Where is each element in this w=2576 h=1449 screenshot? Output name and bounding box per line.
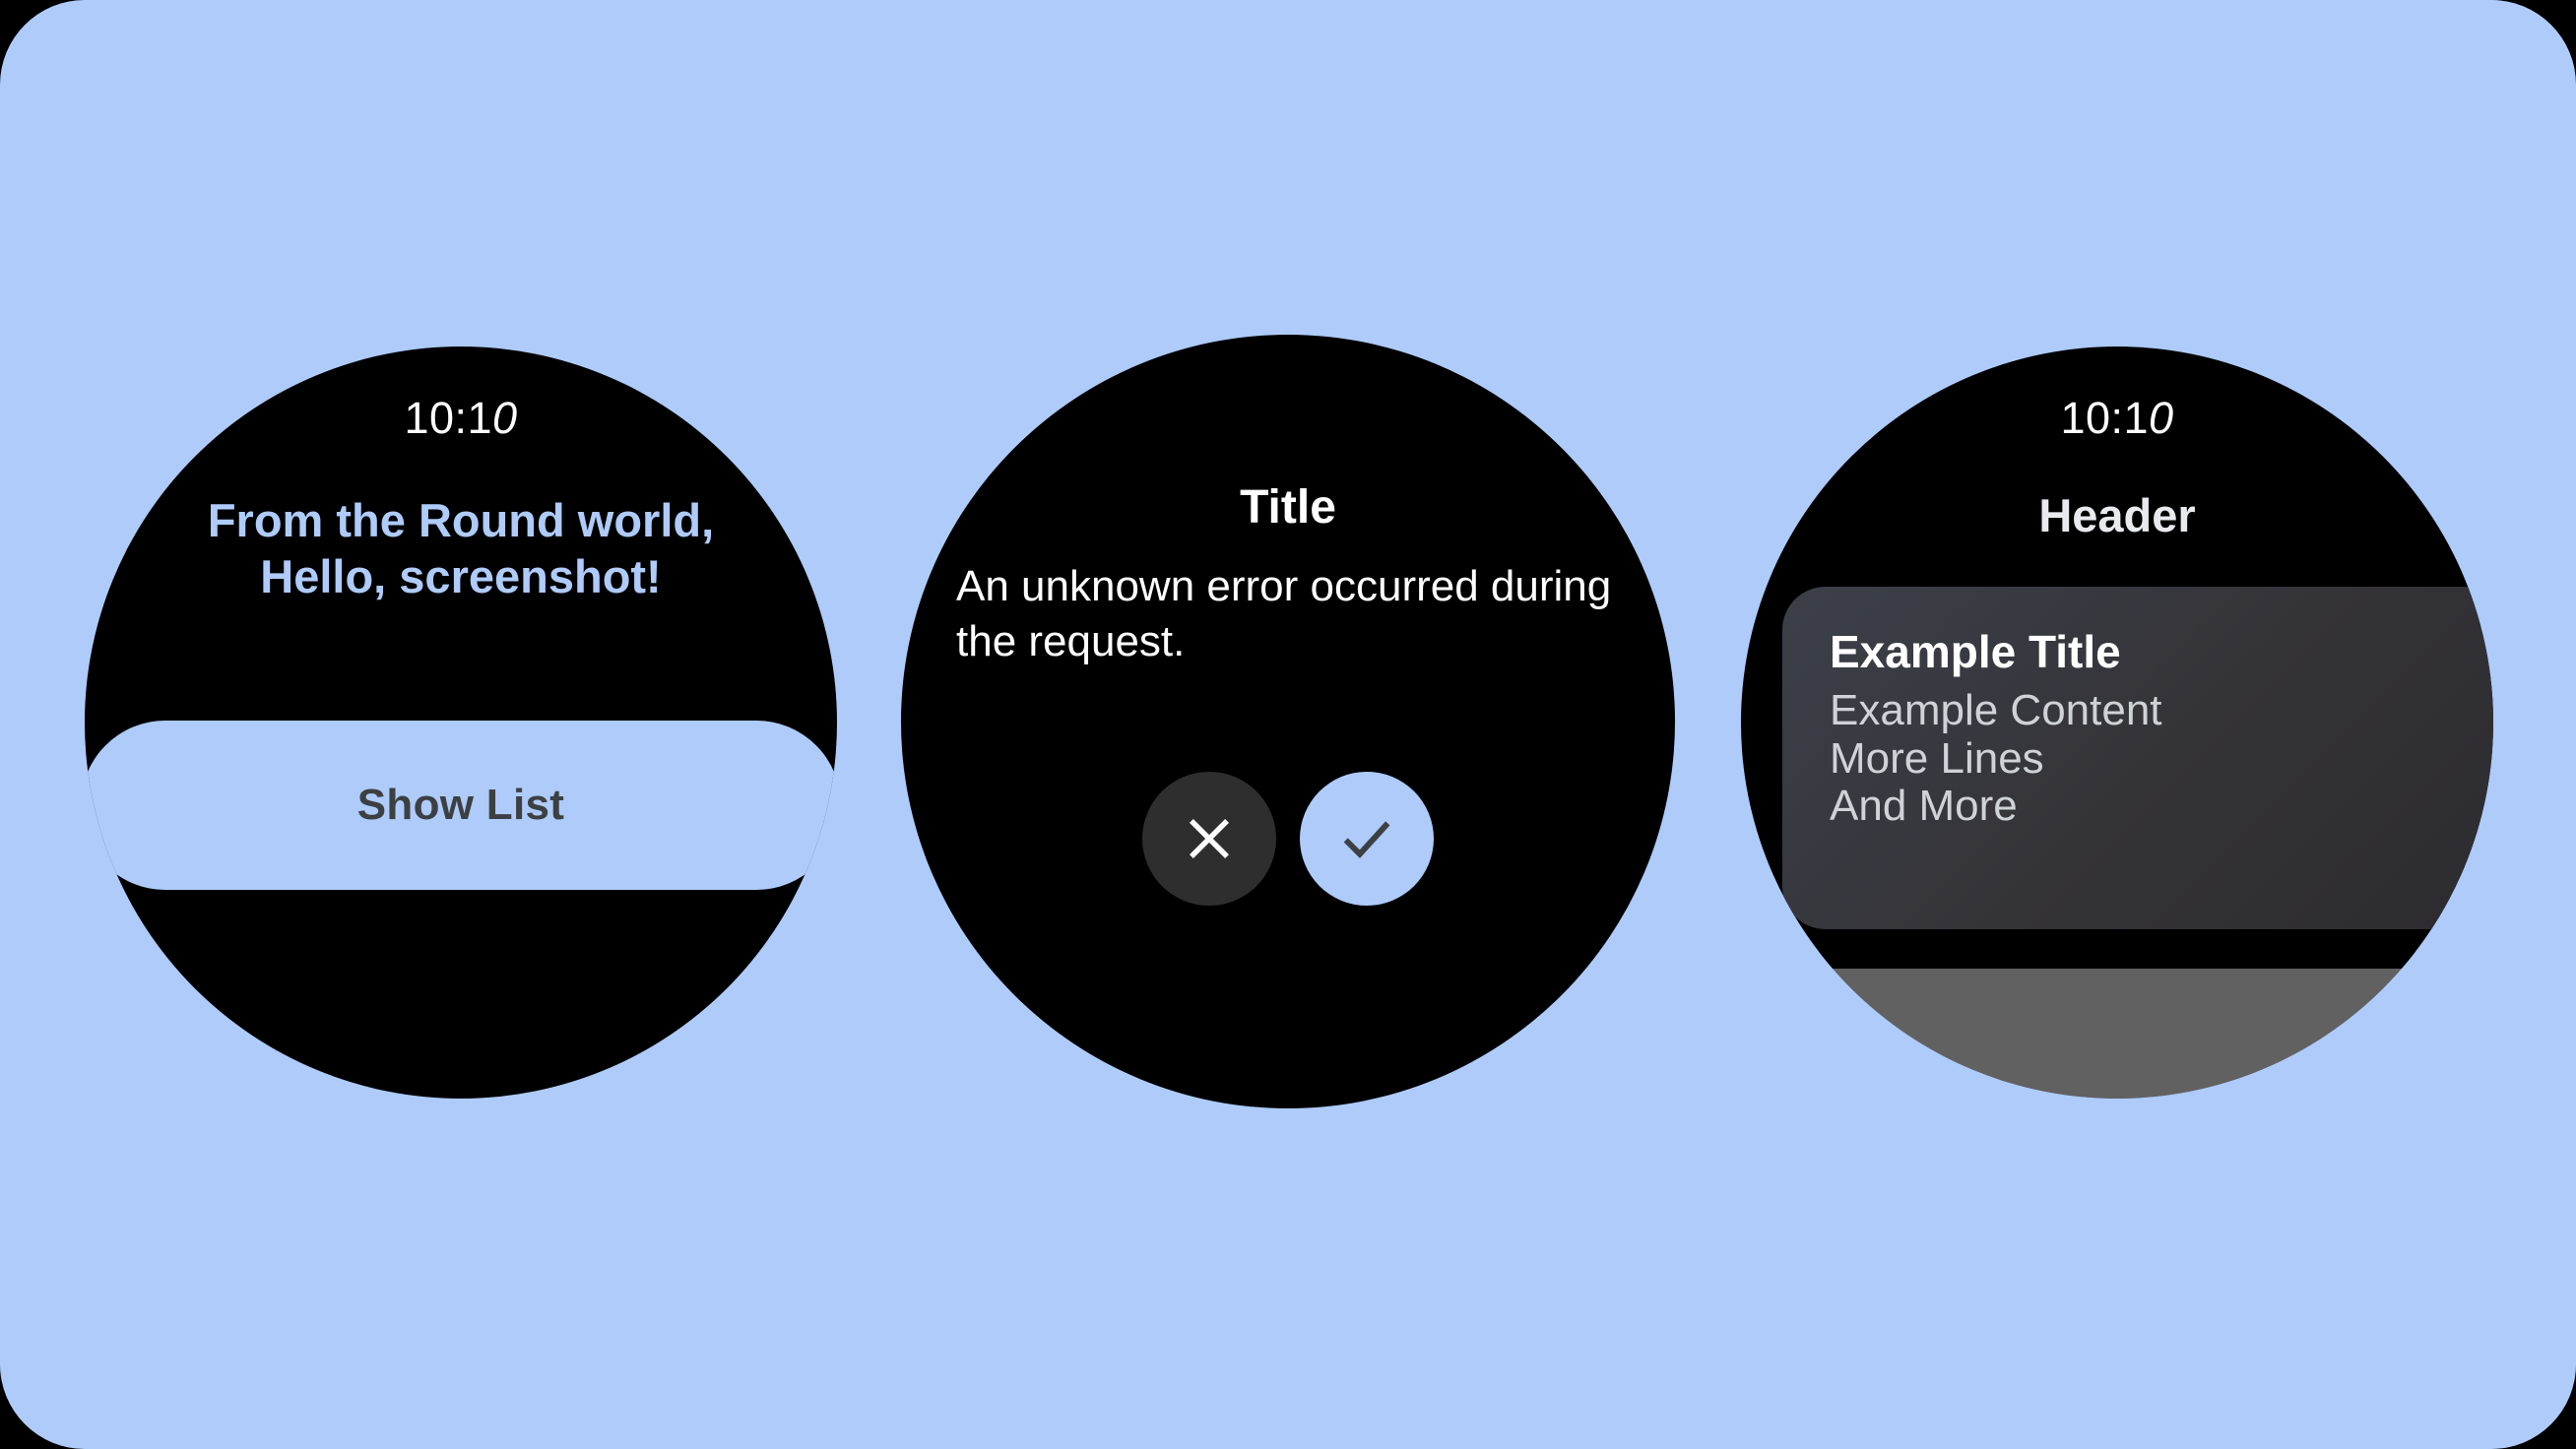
alert-actions [901, 772, 1675, 906]
alert-title: Title [901, 484, 1675, 532]
dismiss-button[interactable] [1142, 772, 1276, 906]
card-line: More Lines [1830, 735, 2493, 783]
card-line: Example Content [1830, 687, 2493, 734]
watch-screen-alert: Title An unknown error occurred during t… [901, 335, 1675, 1108]
watch-face-alert: Title An unknown error occurred during t… [901, 335, 1675, 1108]
time-text-italic-digit: 0 [2149, 393, 2174, 443]
watch-face-card-list: 10:10 Header Example Title Example Conte… [1741, 346, 2493, 1099]
bottom-scrim [1741, 969, 2493, 1099]
card-title: Example Title [1830, 628, 2493, 675]
alert-message: An unknown error occurred during the req… [956, 559, 1620, 670]
show-list-button[interactable]: Show List [85, 721, 837, 890]
time-text: 10:1 [404, 393, 492, 443]
time-text: 10:1 [2060, 393, 2149, 443]
card-line: And More [1830, 783, 2493, 830]
check-icon [1333, 805, 1400, 872]
show-list-button-label: Show List [357, 781, 564, 830]
screenshot-canvas: 10:10 From the Round world, Hello, scree… [0, 0, 2576, 1449]
status-bar-time: 10:10 [1741, 396, 2493, 440]
example-card[interactable]: Example Title Example Content More Lines… [1782, 587, 2493, 929]
close-icon [1179, 808, 1240, 869]
card-bottom-divider [1741, 951, 2493, 969]
confirm-button[interactable] [1300, 772, 1434, 906]
watch-screen-greeting: 10:10 From the Round world, Hello, scree… [85, 346, 837, 1099]
greeting-text: From the Round world, Hello, screenshot! [136, 492, 786, 605]
status-bar-time: 10:10 [85, 396, 837, 440]
watch-screen-card-list: 10:10 Header Example Title Example Conte… [1741, 346, 2493, 1099]
page-header: Header [1741, 492, 2493, 538]
time-text-italic-digit: 0 [492, 393, 518, 443]
watch-face-greeting: 10:10 From the Round world, Hello, scree… [85, 346, 837, 1099]
